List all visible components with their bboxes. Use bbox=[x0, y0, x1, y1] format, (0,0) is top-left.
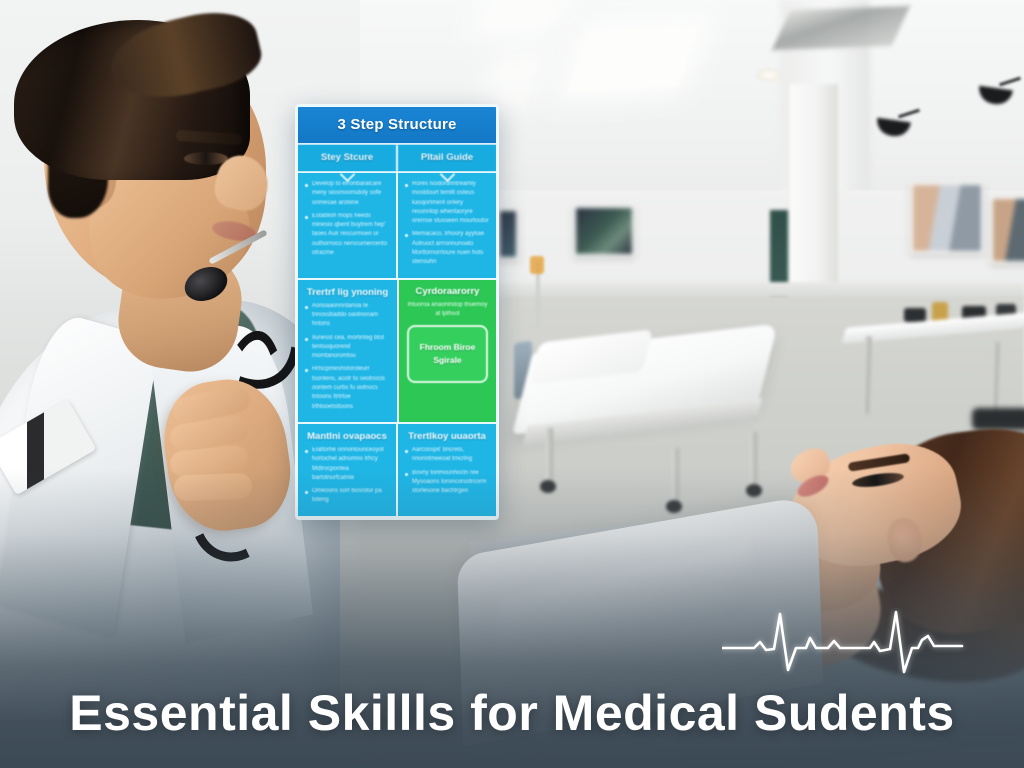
list-item: Memacaco, trhoory ayytiae Aolruoct arrro… bbox=[405, 230, 489, 267]
panel-cell-highlight[interactable]: Cyrdoraarorry Ihtuoroa anaonlndop thuemo… bbox=[397, 280, 496, 422]
bullet-list: Rores lsodordnntreamly mostdourt temitt … bbox=[405, 180, 489, 268]
ceiling-vent bbox=[772, 6, 910, 50]
cell-title: Trertlkoy uuaorta bbox=[405, 431, 489, 442]
list-item: Develop to erronbaralcare meny siosmoons… bbox=[305, 180, 389, 208]
cell-title: Trertrf lig ynoning bbox=[305, 287, 390, 298]
cell-title: Cyrdoraarorry bbox=[416, 286, 480, 297]
poster-canvas: 3 Step Structure Stey Stcure Pltail Guid… bbox=[0, 0, 1024, 768]
trolley-leg bbox=[863, 336, 872, 414]
bullet-list: Develop to erronbaralcare meny siosmoons… bbox=[305, 180, 389, 258]
panel-header-title: 3 Step Structure bbox=[298, 107, 496, 145]
panel-row: Trertrf lig ynoning Aonoaaonnrdanoa te t… bbox=[298, 280, 496, 424]
ceiling-downlight bbox=[756, 68, 782, 82]
list-item: Aonoaaonnrdanoa te tnnossbaddo oaotnonam… bbox=[305, 302, 390, 330]
list-item: Ilunesst cea, mortinteg btot tentsoquore… bbox=[305, 334, 390, 362]
page-title: Essential Skillls for Medical Sudents bbox=[0, 684, 1024, 742]
wall-picture bbox=[910, 182, 984, 254]
panel-row: Develop to erronbaralcare meny siosmoons… bbox=[298, 173, 496, 280]
panel-cell[interactable]: Develop to erronbaralcare meny siosmoons… bbox=[298, 173, 396, 278]
panel-cell[interactable]: Rores lsodordnntreamly mostdourt temitt … bbox=[396, 173, 496, 278]
highlight-cta-button[interactable]: Fhroom Biroe Sgirale bbox=[407, 325, 489, 383]
list-item: Aarcosspit' bncrets, nnonntmeeoat trncrl… bbox=[405, 446, 489, 465]
trolley-item bbox=[904, 308, 926, 322]
doctor-eye bbox=[184, 152, 228, 165]
infographic-panel[interactable]: 3 Step Structure Stey Stcure Pltail Guid… bbox=[295, 104, 499, 520]
panel-tab-bar: Stey Stcure Pltail Guide bbox=[298, 145, 496, 173]
list-item: Hrtscpmeshsforoteurr tsontens, acotr to … bbox=[305, 365, 390, 411]
cell-title: Mantlni ovapaocs bbox=[305, 431, 389, 442]
wall-picture bbox=[573, 205, 635, 257]
iv-bag bbox=[530, 256, 544, 274]
list-item: Rores lsodordnntreamly mostdourt temitt … bbox=[405, 180, 489, 226]
cell-subtitle: Ihtuoroa anaonlndop thuemoy at lpthsot bbox=[405, 301, 490, 319]
panel-cell[interactable]: Trertrf lig ynoning Aonoaaonnrdanoa te t… bbox=[298, 280, 397, 422]
list-item: Establish mops heeds minesio qbent buytr… bbox=[305, 212, 389, 258]
panel-tab-pitfall-guide[interactable]: Pltail Guide bbox=[396, 145, 496, 171]
wall-picture bbox=[990, 196, 1024, 264]
bullet-list: Aonoaaonnrdanoa te tnnossbaddo oaotnonam… bbox=[305, 302, 390, 412]
ceiling-light-panel bbox=[484, 0, 558, 26]
wall-picture bbox=[497, 208, 519, 260]
panel-tab-step-structure[interactable]: Stey Stcure bbox=[298, 145, 396, 171]
